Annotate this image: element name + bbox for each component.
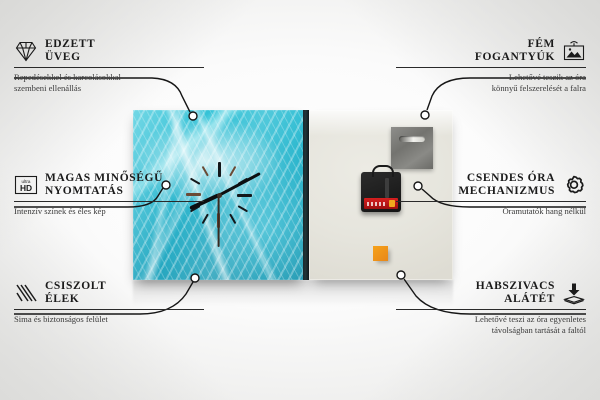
battery <box>364 198 398 209</box>
clock-center-cap <box>217 193 222 198</box>
callout-divider <box>396 67 586 68</box>
clock-second-hand <box>218 195 220 247</box>
callout-title: MAGAS MINŐSÉGŰ NYOMTATÁS <box>45 172 163 197</box>
callout-description: Óramutatók hang nélkül <box>396 206 586 217</box>
callout-description: Repedésekkel és karcolásokkal szembeni e… <box>14 72 204 94</box>
metal-hanger-plate <box>391 127 433 169</box>
callout-silent-mechanism: CSENDES ÓRA MECHANIZMUS Óramutatók hang … <box>396 172 586 217</box>
callout-divider <box>396 201 586 202</box>
callout-title: CSISZOLT ÉLEK <box>45 280 106 305</box>
diamond-icon <box>14 39 38 63</box>
svg-text:HD: HD <box>20 183 32 193</box>
callout-header: HABSZIVACS ALÁTÉT <box>396 280 586 305</box>
ultra-hd-icon: ultra HD <box>14 173 38 197</box>
wall-mount-frame-icon <box>562 39 586 63</box>
callout-title: EDZETT ÜVEG <box>45 38 95 63</box>
callout-hd-print: ultra HD MAGAS MINŐSÉGŰ NYOMTATÁS Intenz… <box>14 172 204 217</box>
callout-description: Sima és biztonságos felület <box>14 314 204 325</box>
foam-pad-icon <box>562 281 586 305</box>
callout-divider <box>396 309 586 310</box>
polished-edges-icon <box>14 281 38 305</box>
callout-polished-edges: CSISZOLT ÉLEK Sima és biztonságos felüle… <box>14 280 204 325</box>
callout-title: CSENDES ÓRA MECHANIZMUS <box>458 172 555 197</box>
callout-header: CSISZOLT ÉLEK <box>14 280 204 305</box>
callout-metal-handles: FÉM FOGANTYÚK Lehetővé teszik az óra kön… <box>396 38 586 94</box>
callout-header: CSENDES ÓRA MECHANIZMUS <box>396 172 586 197</box>
callout-header: ultra HD MAGAS MINŐSÉGŰ NYOMTATÁS <box>14 172 204 197</box>
infographic-canvas: EDZETT ÜVEG Repedésekkel és karcolásokka… <box>0 0 600 400</box>
callout-description: Lehetővé teszi az óra egyenletes távolsá… <box>396 314 586 336</box>
callout-title: FÉM FOGANTYÚK <box>475 38 555 63</box>
clock-mechanism-box <box>361 172 401 212</box>
mechanism-hanging-loop <box>372 165 394 177</box>
callout-title: HABSZIVACS ALÁTÉT <box>476 280 555 305</box>
gear-icon <box>562 173 586 197</box>
callout-foam-pad: HABSZIVACS ALÁTÉT Lehetővé teszi az óra … <box>396 280 586 336</box>
callout-divider <box>14 201 204 202</box>
callout-description: Lehetővé teszik az óra könnyű felszerelé… <box>396 72 586 94</box>
callout-divider <box>14 67 204 68</box>
hanger-slot <box>399 136 425 142</box>
mechanism-shaft <box>385 178 389 198</box>
foam-spacer-pad <box>373 246 388 261</box>
callout-header: EDZETT ÜVEG <box>14 38 204 63</box>
callout-tempered-glass: EDZETT ÜVEG Repedésekkel és karcolásokka… <box>14 38 204 94</box>
callout-description: Intenzív színek és éles kép <box>14 206 204 217</box>
callout-header: FÉM FOGANTYÚK <box>396 38 586 63</box>
callout-divider <box>14 309 204 310</box>
